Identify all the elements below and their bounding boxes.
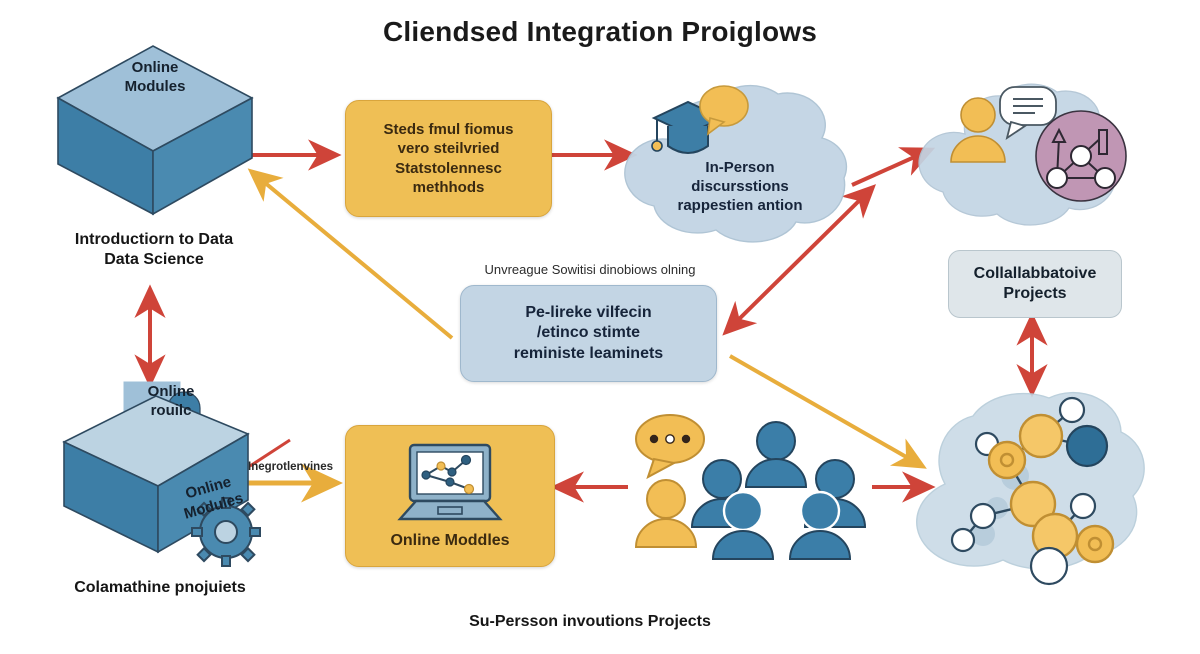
right-box-line2: Projects <box>1003 284 1066 304</box>
online-moddles-box[interactable]: Online Moddles <box>345 425 555 567</box>
people-discussion-icon <box>618 415 888 565</box>
integration-edge-label: Inegrotlenvines <box>248 461 333 473</box>
arrow-cloud-to-personcloud <box>852 150 930 185</box>
cloud-line-0: In-Person <box>620 158 860 177</box>
person-blue-back <box>746 422 806 487</box>
blended-learning-box[interactable]: Pe-lireke vilfecin /etinco stimte remini… <box>460 285 717 382</box>
bottom-center-caption: Su-Persson invoutions Projects <box>400 612 780 632</box>
network-blob[interactable] <box>915 388 1150 578</box>
box-line-2: Statstolennesc <box>395 159 502 178</box>
in-person-discussions-cloud[interactable]: In-Person discursstions rappestien antio… <box>620 80 860 245</box>
cube-label-line1: Online <box>50 58 260 77</box>
center-line-2: reministe leaminets <box>514 344 663 364</box>
cloud-line-2: rappestien antion <box>620 196 860 215</box>
center-line-1: /etinco stimte <box>537 323 640 343</box>
right-box-line1: Collallabbatoive <box>974 264 1097 284</box>
speech-bubble-icon <box>696 84 752 136</box>
network-graph-blob-icon <box>915 388 1150 578</box>
person-network-cloud[interactable] <box>925 72 1140 237</box>
intro-data-science-caption: Introductiorn to Data Data Science <box>30 230 278 271</box>
center-box-above-label: Unvreague Sowitisi dinobiows olning <box>440 262 740 277</box>
cube-label-line2: Modules <box>50 77 260 96</box>
caption-line1: Introductiorn to Data <box>30 230 278 250</box>
statistics-methods-box[interactable]: Steds fmul fiomus vero steilvried Statst… <box>345 100 552 217</box>
network-graph-icon <box>1035 110 1127 202</box>
person-yellow <box>636 480 696 547</box>
box-line-3: methhods <box>413 178 485 197</box>
caption-line2: Data Science <box>30 250 278 270</box>
small-top-line2: rouilc <box>116 401 226 420</box>
speech-bubble-dots-icon <box>636 415 704 477</box>
cube-top-label: Online Modules <box>50 58 260 96</box>
cloud-line-1: discursstions <box>620 177 860 196</box>
cloud-text: In-Person discursstions rappestien antio… <box>620 158 860 216</box>
laptop-chart-icon <box>394 441 506 527</box>
people-group <box>618 415 888 565</box>
small-top-line1: Online <box>116 382 226 401</box>
collaborative-projects-box[interactable]: Collallabbatoive Projects <box>948 250 1122 318</box>
collaborative-projects-caption: Colamathine pnojuiets <box>30 578 290 598</box>
cube-small-top-label: Online rouilc <box>116 382 226 420</box>
box-line-1: vero steilvried <box>398 139 500 158</box>
diagram-canvas: Cliendsed Integration Proiglows <box>0 0 1200 654</box>
box-line-0: Steds fmul fiomus <box>383 120 513 139</box>
online-moddles-label: Online Moddles <box>390 531 509 551</box>
online-modules-cube: Online Modules <box>50 36 260 226</box>
center-line-0: Pe-lireke vilfecin <box>525 303 651 323</box>
